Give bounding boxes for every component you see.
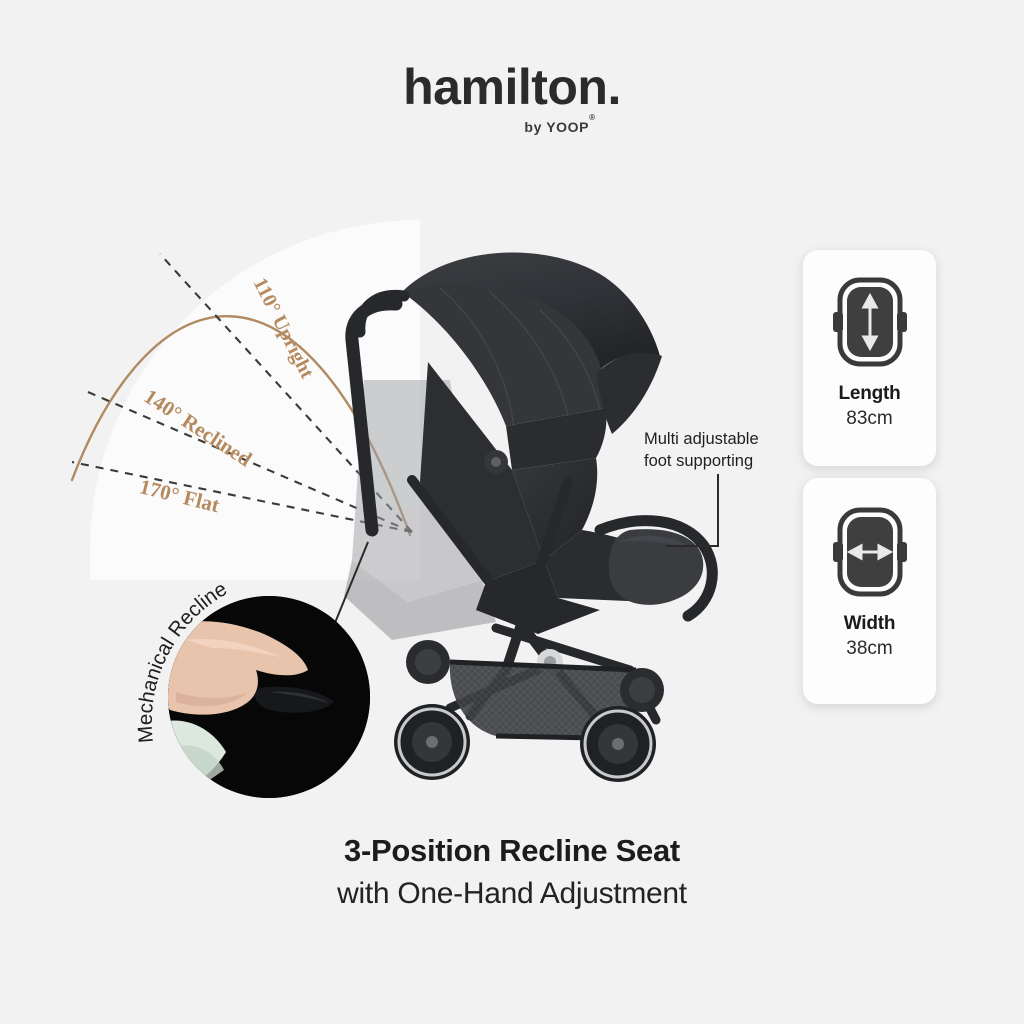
brand-logo: hamilton. by YOOP® xyxy=(0,62,1024,135)
foot-support-line-1: Multi adjustable xyxy=(644,428,794,450)
caption-main: 3-Position Recline Seat xyxy=(0,833,1024,869)
recline-pivot-center xyxy=(491,457,501,467)
trademark-symbol: ® xyxy=(589,113,596,122)
brand-name: hamilton. xyxy=(0,62,1024,112)
product-infographic: hamilton. by YOOP® 110° Upright 140° Rec… xyxy=(0,0,1024,1024)
foot-support-callout: Multi adjustable foot supporting xyxy=(644,428,794,473)
brand-byline-text: by YOOP xyxy=(524,119,589,135)
mechanical-recline-photo xyxy=(168,596,370,798)
spec-card-width[interactable]: Width 38cm xyxy=(803,478,936,704)
bottom-caption: 3-Position Recline Seat with One-Hand Ad… xyxy=(0,833,1024,911)
spec-card-length[interactable]: Length 83cm xyxy=(803,250,936,466)
horizontal-double-arrow-icon xyxy=(827,504,913,600)
spec-title-length: Length xyxy=(838,383,900,405)
spec-title-width: Width xyxy=(844,613,896,635)
spec-value-length: 83cm xyxy=(846,408,892,430)
vertical-double-arrow-icon xyxy=(827,274,913,370)
spec-value-width: 38cm xyxy=(846,638,892,660)
foot-support-line-2: foot supporting xyxy=(644,450,794,472)
caption-sub: with One-Hand Adjustment xyxy=(0,877,1024,911)
foot-support-leader-line xyxy=(660,472,810,582)
brand-byline: by YOOP® xyxy=(96,119,1024,135)
